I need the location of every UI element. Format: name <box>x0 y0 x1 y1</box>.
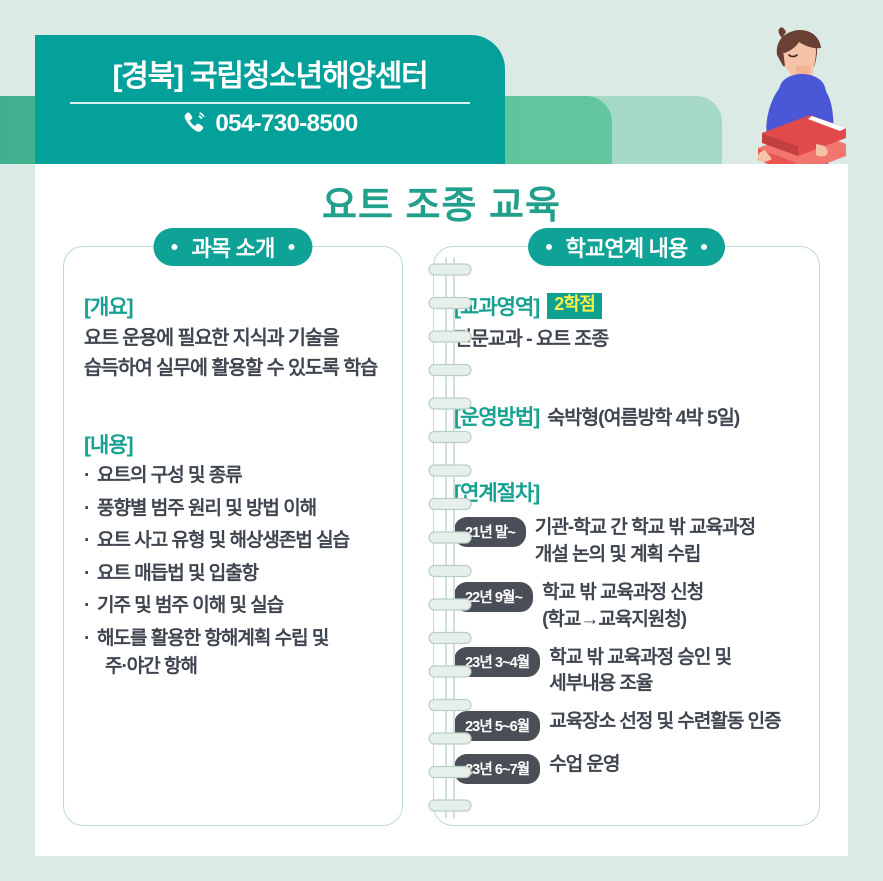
phone-row: 054-730-8500 <box>182 110 357 139</box>
subject-area-section: [교과영역] 2학점 전문교과 - 요트 조종 <box>454 291 799 355</box>
pill-dot-left-icon <box>171 244 177 250</box>
list-item: · 요트 사고 유형 및 해상생존법 실습 <box>84 527 382 556</box>
timeline-step-line2: 개설 논의 및 계획 수립 <box>535 542 755 569</box>
pill-dot-right-icon <box>289 244 295 250</box>
list-item-label: 요트 사고 유형 및 해상생존법 실습 <box>97 527 382 556</box>
timeline-step: 22년 9월~ 학교 밖 교육과정 신청 (학교→교육지원청) <box>454 580 799 634</box>
bullet-dot-icon: · <box>84 560 97 589</box>
list-item-label: 요트 매듭법 및 입출항 <box>97 560 382 589</box>
list-item: · 풍향별 범주 원리 및 방법 이해 <box>84 495 382 524</box>
list-item: · 기주 및 범주 이해 및 실습 <box>84 592 382 621</box>
bullet-dot-icon: · <box>84 495 97 524</box>
linkage-procedure-heading: [연계절차] <box>454 477 799 507</box>
bullet-dot-icon: · <box>84 592 97 621</box>
timeline-step-text: 교육장소 선정 및 수련활동 인증 <box>549 709 780 736</box>
timeline-step-line1: 학교 밖 교육과정 승인 및 <box>549 647 731 668</box>
timeline-step: 23년 5~6월 교육장소 선정 및 수련활동 인증 <box>454 709 799 741</box>
pill-dot-left-icon <box>546 244 552 250</box>
person-carrying-books-illustration <box>736 22 868 180</box>
bullet-dot-icon: · <box>84 625 97 682</box>
school-linkage-pill: 학교연계 내용 <box>528 228 726 266</box>
timeline-step-text: 기관-학교 간 학교 밖 교육과정 개설 논의 및 계획 수립 <box>535 515 755 569</box>
timeline-step-text: 학교 밖 교육과정 승인 및 세부내용 조율 <box>549 645 731 699</box>
list-item: · 해도를 활용한 항해계획 수립 및 주·야간 항해 <box>84 625 382 682</box>
timeline-step-line2: 세부내용 조율 <box>549 671 731 698</box>
school-linkage-panel: 학교연계 내용 [교과영역] 2학점 전문교과 - 요트 조종 [운영방법] 숙… <box>433 246 820 826</box>
page-title: 요트 조종 교육 <box>35 184 848 230</box>
timeline-step: 21년 말~ 기관-학교 간 학교 밖 교육과정 개설 논의 및 계획 수립 <box>454 515 799 569</box>
list-item: · 요트 매듭법 및 입출항 <box>84 560 382 589</box>
timeline-step-text: 수업 운영 <box>549 752 619 779</box>
list-item-label-line1: 해도를 활용한 항해계획 수립 및 <box>97 628 328 649</box>
timeline-step-line1: 학교 밖 교육과정 신청 <box>542 582 703 603</box>
list-item-label-line2: 주·야간 항해 <box>97 653 382 682</box>
phone-number[interactable]: 054-730-8500 <box>215 110 357 138</box>
course-introduction-label: 과목 소개 <box>191 231 274 263</box>
banner-content: [경북] 국립청소년해양센터 054-730-8500 <box>35 35 505 164</box>
timeline-step-text: 학교 밖 교육과정 신청 (학교→교육지원청) <box>542 580 703 634</box>
list-item-label: 요트의 구성 및 종류 <box>97 462 382 491</box>
course-introduction-panel: 과목 소개 [개요] 요트 운용에 필요한 지식과 기술을 습득하여 실무에 활… <box>63 246 403 826</box>
operation-method-section: [운영방법] 숙박형(여름방학 4박 5일) <box>454 401 799 431</box>
banner-divider <box>70 102 470 104</box>
linkage-procedure-section: [연계절차] 21년 말~ 기관-학교 간 학교 밖 교육과정 개설 논의 및 … <box>454 477 799 785</box>
list-item-label: 풍향별 범주 원리 및 방법 이해 <box>97 495 382 524</box>
pill-dot-right-icon <box>701 244 707 250</box>
timeline-step-line2: (학교→교육지원청) <box>542 607 703 634</box>
bullet-dot-icon: · <box>84 527 97 556</box>
school-linkage-label: 학교연계 내용 <box>566 231 688 263</box>
overview-line-2: 습득하여 실무에 활용할 수 있도록 학습 <box>84 354 382 384</box>
contents-section: [내용] · 요트의 구성 및 종류 · 풍향별 범주 원리 및 방법 이해 ·… <box>84 429 382 682</box>
list-item-label: 해도를 활용한 항해계획 수립 및 주·야간 항해 <box>97 625 382 682</box>
overview-line-1: 요트 운용에 필요한 지식과 기술을 <box>84 324 382 354</box>
subject-area-detail: 전문교과 - 요트 조종 <box>454 325 799 355</box>
timeline-step-line1: 기관-학교 간 학교 밖 교육과정 <box>535 517 755 538</box>
operation-method-detail: 숙박형(여름방학 4박 5일) <box>547 401 739 430</box>
spiral-binding-rings <box>427 258 473 818</box>
overview-heading: [개요] <box>84 291 382 321</box>
list-item: · 요트의 구성 및 종류 <box>84 462 382 491</box>
timeline-step: 23년 6~7월 수업 운영 <box>454 752 799 784</box>
timeline-step: 23년 3~4월 학교 밖 교육과정 승인 및 세부내용 조율 <box>454 645 799 699</box>
content-card: 요트 조종 교육 과목 소개 [개요] 요트 운용에 필요한 지식과 기술을 습… <box>35 164 848 856</box>
course-introduction-pill: 과목 소개 <box>153 228 312 266</box>
bullet-dot-icon: · <box>84 462 97 491</box>
overview-section: [개요] 요트 운용에 필요한 지식과 기술을 습득하여 실무에 활용할 수 있… <box>84 291 382 383</box>
organization-name: [경북] 국립청소년해양센터 <box>112 60 427 95</box>
subject-area-heading-row: [교과영역] 2학점 <box>454 291 799 321</box>
credit-badge: 2학점 <box>547 293 602 319</box>
contents-heading: [내용] <box>84 429 382 459</box>
list-item-label: 기주 및 범주 이해 및 실습 <box>97 592 382 621</box>
phone-ringing-icon <box>182 110 208 139</box>
